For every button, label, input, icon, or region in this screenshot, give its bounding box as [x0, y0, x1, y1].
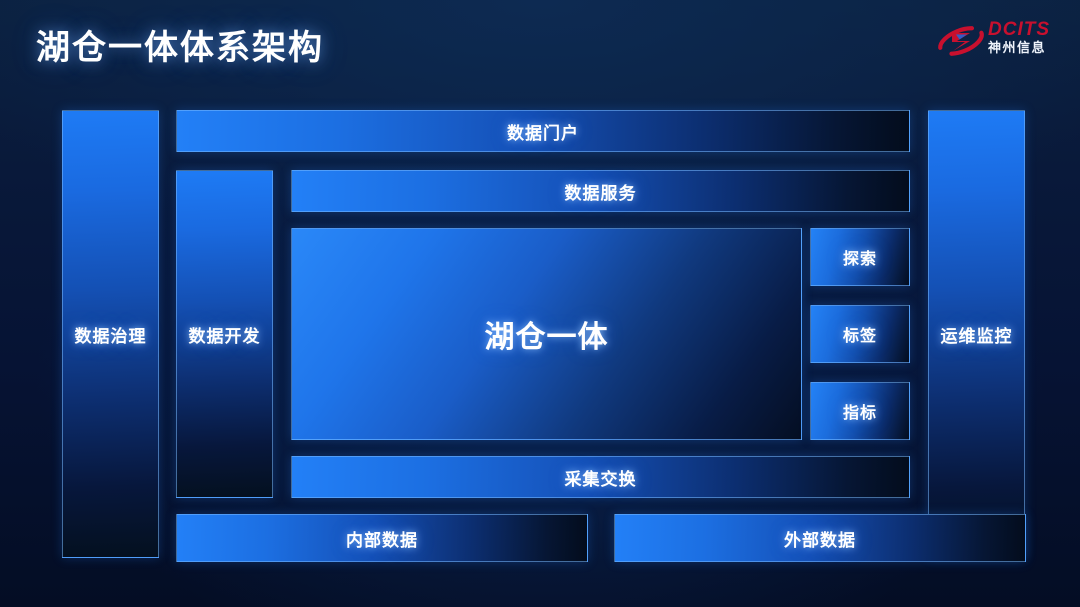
diagram-column-data-development[interactable]: 数据开发 — [176, 170, 273, 498]
slide-canvas: 湖仓一体体系架构 DCITS 神州信息 数据治理 运维监控 — [0, 0, 1080, 607]
diagram-column-data-governance-label: 数据治理 — [75, 322, 147, 347]
diagram-bar-internal-data-label: 内部数据 — [346, 526, 418, 551]
logo-subtext: 神州信息 — [988, 40, 1068, 56]
brand-logo: DCITS 神州信息 — [936, 16, 1068, 70]
dcits-swirl-icon — [936, 22, 986, 60]
diagram-column-data-governance[interactable]: 数据治理 — [62, 110, 159, 558]
diagram-bar-internal-data[interactable]: 内部数据 — [176, 514, 588, 562]
diagram-bar-external-data[interactable]: 外部数据 — [614, 514, 1026, 562]
diagram-chip-tags-label: 标签 — [843, 322, 877, 346]
page-title: 湖仓一体体系架构 — [36, 20, 324, 69]
diagram-bar-external-data-label: 外部数据 — [784, 526, 856, 551]
diagram-chip-explore[interactable]: 探索 — [810, 228, 910, 286]
diagram-bar-data-portal-label: 数据门户 — [507, 119, 579, 144]
diagram-core-lakehouse-label: 湖仓一体 — [485, 312, 609, 356]
diagram-chip-metrics-label: 指标 — [843, 399, 877, 423]
diagram-bar-collect-exchange[interactable]: 采集交换 — [291, 456, 910, 498]
diagram-column-data-development-label: 数据开发 — [189, 322, 261, 347]
diagram-chip-explore-label: 探索 — [843, 245, 877, 269]
diagram-column-ops-monitoring[interactable]: 运维监控 — [928, 110, 1025, 558]
diagram-bar-data-service-label: 数据服务 — [565, 179, 637, 204]
diagram-chip-metrics[interactable]: 指标 — [810, 382, 910, 440]
diagram-column-ops-monitoring-label: 运维监控 — [941, 322, 1013, 347]
logo-text-block: DCITS 神州信息 — [988, 19, 1068, 56]
diagram-bar-collect-exchange-label: 采集交换 — [565, 465, 637, 490]
slide-header: 湖仓一体体系架构 DCITS 神州信息 — [0, 0, 1080, 92]
diagram-bar-data-service[interactable]: 数据服务 — [291, 170, 910, 212]
diagram-core-lakehouse[interactable]: 湖仓一体 — [291, 228, 802, 440]
logo-wordmark: DCITS — [988, 19, 1068, 40]
diagram-chip-tags[interactable]: 标签 — [810, 305, 910, 363]
diagram-bar-data-portal[interactable]: 数据门户 — [176, 110, 910, 152]
